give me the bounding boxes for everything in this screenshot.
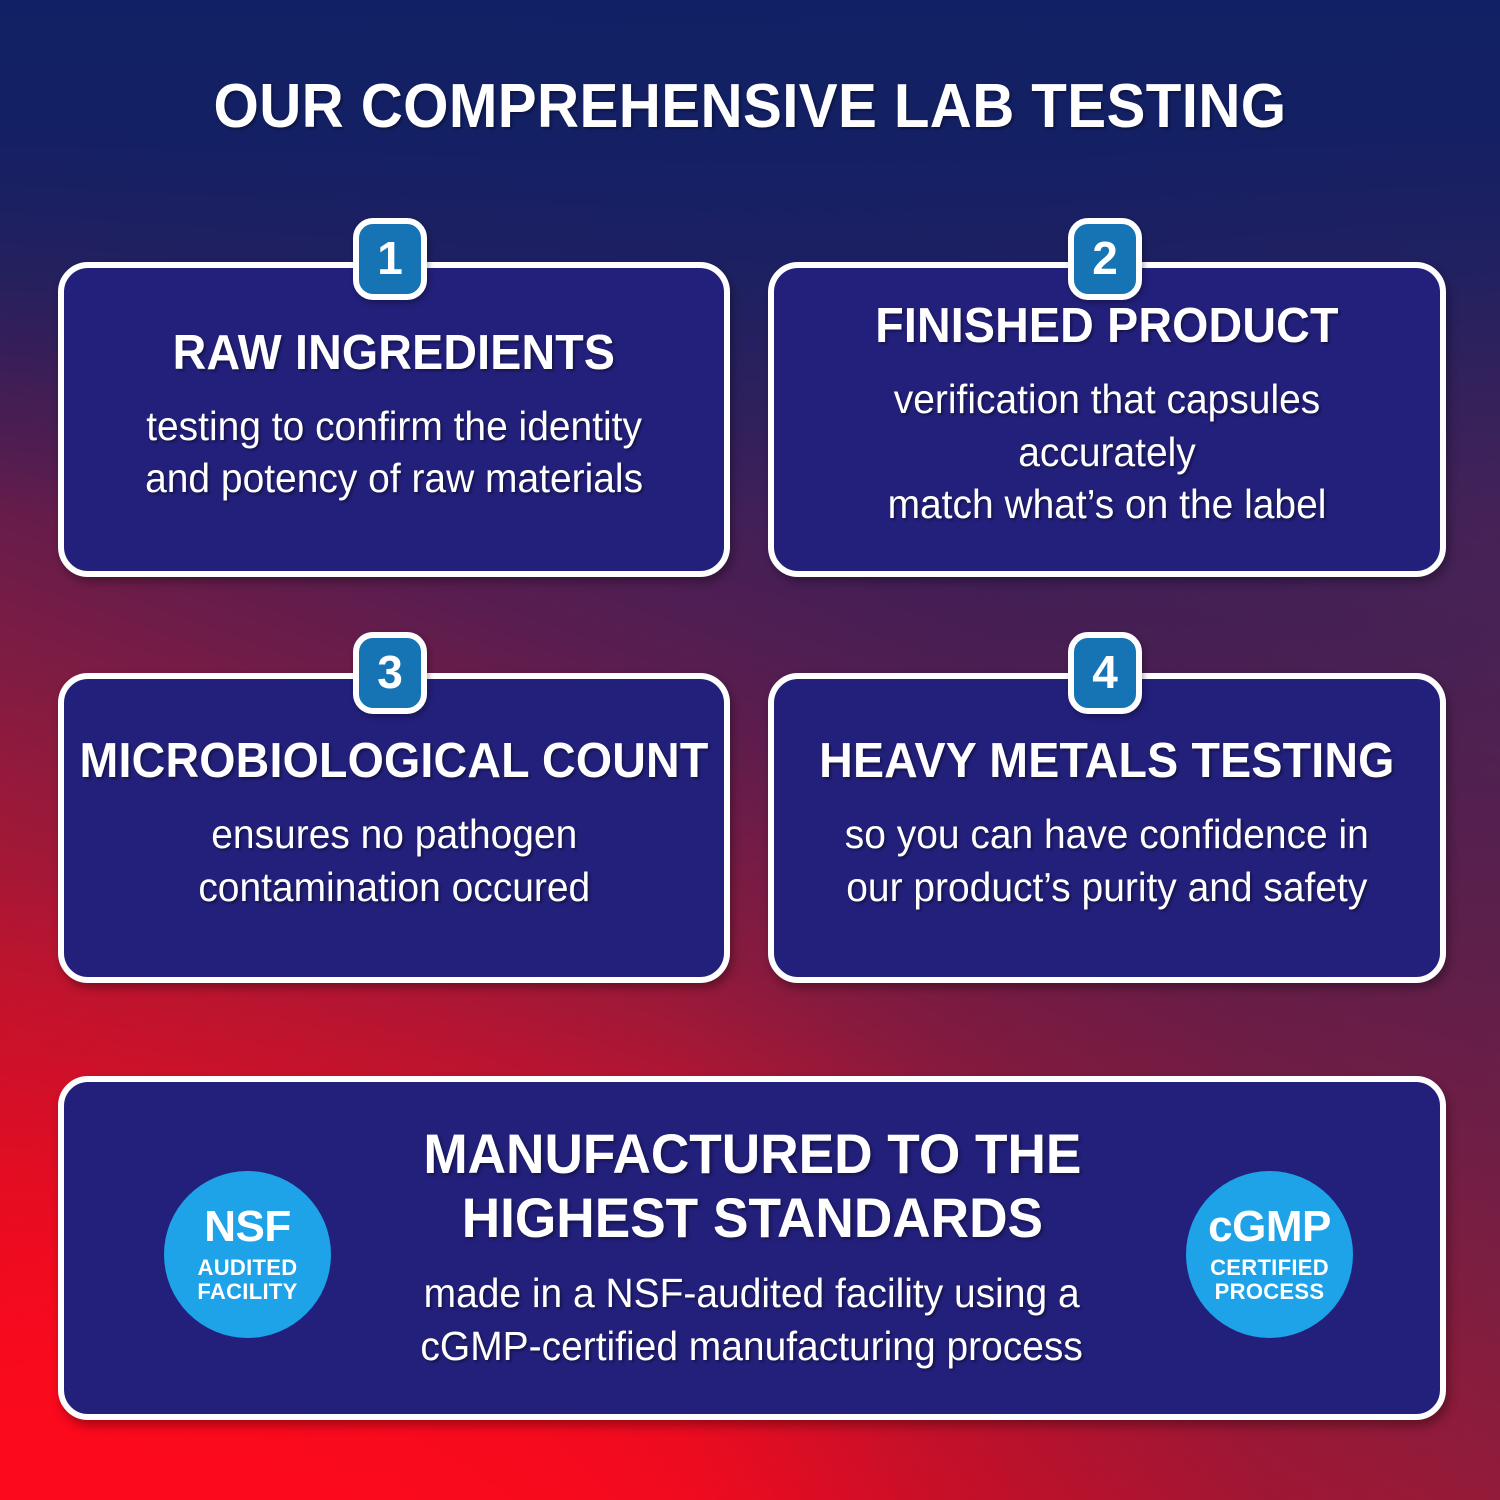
card-heavy-metals-testing: HEAVY METALS TESTING so you can have con… xyxy=(768,673,1446,983)
step-number-badge-1: 1 xyxy=(353,218,427,300)
card-heading: HEAVY METALS TESTING xyxy=(819,737,1394,786)
card-microbiological-count: MICROBIOLOGICAL COUNT ensures no pathoge… xyxy=(58,673,730,983)
page-title: OUR COMPREHENSIVE LAB TESTING xyxy=(45,76,1455,138)
step-number-badge-3: 3 xyxy=(353,632,427,714)
step-number-badge-2: 2 xyxy=(1068,218,1142,300)
card-body: verification that capsules accurately ma… xyxy=(808,373,1407,530)
card-heading: FINISHED PRODUCT xyxy=(875,302,1338,351)
card-content: RAW INGREDIENTS testing to confirm the i… xyxy=(64,268,724,571)
step-number-badge-4: 4 xyxy=(1068,632,1142,714)
banner-manufacturing-standards: NSF AUDITED FACILITY MANUFACTURED TO THE… xyxy=(58,1076,1446,1420)
card-heading: MICROBIOLOGICAL COUNT xyxy=(80,737,709,786)
card-body: ensures no pathogen contamination occure… xyxy=(198,808,590,913)
card-content: HEAVY METALS TESTING so you can have con… xyxy=(774,679,1440,977)
seal-subtitle: CERTIFIED PROCESS xyxy=(1210,1256,1329,1304)
card-raw-ingredients: RAW INGREDIENTS testing to confirm the i… xyxy=(58,262,730,577)
card-body: testing to confirm the identity and pote… xyxy=(145,400,643,505)
banner-heading: MANUFACTURED TO THE HIGHEST STANDARDS xyxy=(423,1122,1081,1249)
card-content: MICROBIOLOGICAL COUNT ensures no pathoge… xyxy=(64,679,724,977)
cgmp-certified-process-seal-icon: cGMP CERTIFIED PROCESS xyxy=(1186,1171,1353,1338)
card-content: FINISHED PRODUCT verification that capsu… xyxy=(774,268,1440,571)
banner-body: made in a NSF-audited facility using a c… xyxy=(421,1267,1083,1374)
seal-title: cGMP xyxy=(1208,1205,1331,1249)
infographic-poster: OUR COMPREHENSIVE LAB TESTING RAW INGRED… xyxy=(0,0,1500,1500)
card-finished-product: FINISHED PRODUCT verification that capsu… xyxy=(768,262,1446,577)
card-body: so you can have confidence in our produc… xyxy=(845,808,1369,913)
card-heading: RAW INGREDIENTS xyxy=(173,329,616,378)
